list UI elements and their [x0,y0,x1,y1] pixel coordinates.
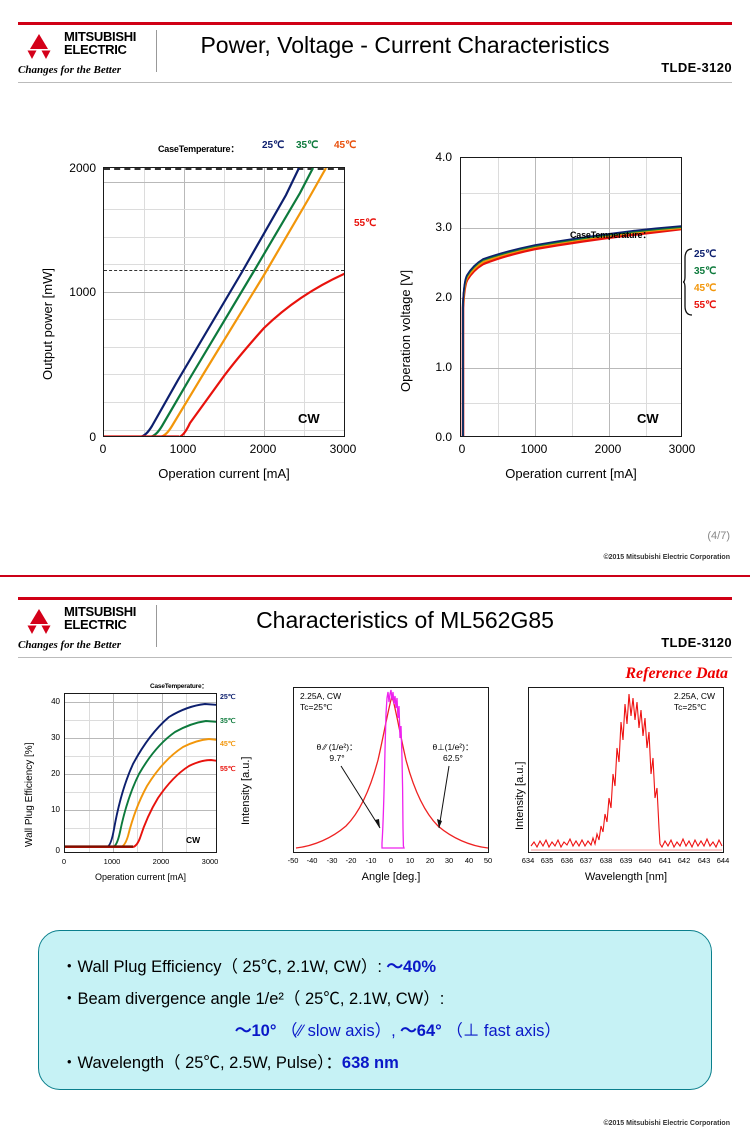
chart5-xaxis-title: Wavelength [nm] [528,871,724,883]
chart1-legend-55c: 55℃ [354,218,376,229]
summary-line-1: ・Wall Plug Efficiency（ 25℃, 2.1W, CW）: ～… [61,953,436,977]
summary-line-2: ・Beam divergence angle 1/e²（ 25℃, 2.1W, … [61,985,444,1009]
chart1-legend-35c: 35℃ [296,140,318,151]
summary-line-2-text: ・Beam divergence angle 1/e²（ 25℃, 2.1W, … [61,990,444,1008]
chart-far-field-pattern: 2.25A, CW Tc=25℃ θ ∕∕ (1/e²)： 9.7° θ⊥(1/… [250,575,500,915]
summary-slow-axis-label: （∕∕ slow axis）, [281,1022,396,1040]
chart5-yaxis-title: Intensity [a.u.] [514,762,526,830]
chart1-curves [104,168,345,437]
summary-line-1-text: ・Wall Plug Efficiency（ 25℃, 2.1W, CW）: [61,958,387,976]
chart1-legend-25c: 25℃ [262,140,284,151]
chart4-annot-perp-l1: θ⊥(1/e²)： [420,742,486,753]
chart2-legend-brace-icon [682,248,694,316]
chart2-legend-title: CaseTemperature： [570,228,651,241]
chart3-ytick-0: 0 [32,846,60,855]
chart2-xaxis-title: Operation current [mA] [460,466,682,481]
chart4-annot-perp-l2: 62.5° [420,753,486,764]
chart2-mode-label: CW [637,411,659,426]
summary-line-4: ・Wavelength（ 25℃, 2.5W, Pulse）：638 nm [61,1049,399,1073]
chart3-ytick-40: 40 [32,697,60,706]
chart3-xtick-3000: 3000 [196,857,224,866]
chart4-plot-area: 2.25A, CW Tc=25℃ θ ∕∕ (1/e²)： 9.7° θ⊥(1/… [293,687,489,853]
chart3-xtick-0: 0 [50,857,78,866]
chart4-annot-parallel-l2: 9.7° [302,753,372,764]
chart1-ytick-2000: 2000 [50,161,96,175]
chart4-note-line1: 2.25A, CW [300,691,341,702]
chart2-xtick-2000: 2000 [588,442,628,456]
chart1-ytick-1000: 1000 [50,285,96,299]
chart5-note-line1: 2.25A, CW [674,691,715,702]
chart1-legend-title: CaseTemperature： [158,142,239,155]
page2-copyright: ©2015 Mitsubishi Electric Corporation [603,1120,730,1127]
chart2-ytick-3: 3.0 [406,220,452,234]
summary-box: ・Wall Plug Efficiency（ 25℃, 2.1W, CW）: ～… [38,930,712,1090]
chart4-annot-perp: θ⊥(1/e²)： 62.5° [420,742,486,764]
chart4-note-line2: Tc=25℃ [300,702,341,713]
chart1-xtick-2000: 2000 [243,442,283,456]
summary-slow-axis-value: ～10° [235,1022,276,1040]
page1-page-number: (4/7) [707,530,730,542]
chart3-legend-45c: 45℃ [220,740,236,748]
chart-emission-spectrum: 2.25A, CW Tc=25℃ 634 635 636 637 638 639… [500,575,750,915]
chart2-legend-45c: 45℃ [694,283,716,294]
page-1: MITSUBISHI ELECTRIC Changes for the Bett… [0,0,750,575]
summary-fast-axis-value: ～64° [400,1022,441,1040]
chart4-annot-parallel: θ ∕∕ (1/e²)： 9.7° [302,742,372,764]
chart4-annot-parallel-l1: θ ∕∕ (1/e²)： [302,742,372,753]
summary-fast-axis-label: （⊥ fast axis） [446,1022,561,1040]
chart5-note: 2.25A, CW Tc=25℃ [674,691,715,714]
chart5-note-line2: Tc=25℃ [674,702,715,713]
chart1-xaxis-title: Operation current [mA] [103,466,345,481]
chart1-xtick-0: 0 [83,442,123,456]
chart3-ytick-30: 30 [32,733,60,742]
chart3-ytick-10: 10 [32,805,60,814]
page1-copyright: ©2015 Mitsubishi Electric Corporation [603,554,730,561]
summary-line-1-value: ～40% [387,958,437,976]
chart3-xtick-1000: 1000 [98,857,126,866]
chart3-ytick-20: 20 [32,769,60,778]
chart2-xtick-3000: 3000 [662,442,702,456]
chart3-yaxis-title: Wall Plug Efficiency [%] [24,743,35,847]
chart3-plot-area [64,693,217,853]
chart2-legend-35c: 35℃ [694,266,716,277]
chart2-legend-25c: 25℃ [694,249,716,260]
chart2-curves [461,158,682,437]
chart-output-power: CaseTemperature： 25℃ 35℃ 45℃ 55℃ [0,0,380,500]
chart1-yaxis-title: Output power [mW] [40,268,55,380]
chart2-legend-55c: 55℃ [694,300,716,311]
chart4-xaxis-title: Angle [deg.] [293,871,489,883]
chart2-yaxis-title: Operation voltage [V] [398,270,413,392]
chart3-legend-35c: 35℃ [220,717,236,725]
chart3-curves [65,694,217,853]
chart1-mode-label: CW [298,411,320,426]
chart-wall-plug-efficiency: CaseTemperature： 25℃ 35℃ [0,575,250,915]
page-2: MITSUBISHI ELECTRIC Changes for the Bett… [0,575,750,1142]
chart-operation-voltage: CaseTemperature： 25℃ 35℃ 45℃ 55℃ CW 4.0 … [380,0,750,500]
chart5-xtick-644: 644 [710,856,736,865]
chart1-legend-45c: 45℃ [334,140,356,151]
chart4-note: 2.25A, CW Tc=25℃ [300,691,341,714]
summary-line-3: ～10° （∕∕ slow axis）, ～64° （⊥ fast axis） [235,1017,561,1041]
chart4-xtick-50: 50 [475,856,501,865]
chart2-plot-area [460,157,682,437]
chart1-plot-area [103,167,345,437]
summary-wavelength-value: 638 nm [342,1054,399,1072]
chart2-ytick-4: 4.0 [406,150,452,164]
chart5-plot-area: 2.25A, CW Tc=25℃ [528,687,724,853]
chart2-xtick-0: 0 [442,442,482,456]
chart3-legend-55c: 55℃ [220,765,236,773]
chart3-xtick-2000: 2000 [147,857,175,866]
chart3-legend-25c: 25℃ [220,693,236,701]
chart2-xtick-1000: 1000 [514,442,554,456]
chart1-xtick-3000: 3000 [323,442,363,456]
chart3-mode-label: CW [186,835,200,845]
chart1-xtick-1000: 1000 [163,442,203,456]
chart3-legend-title: CaseTemperature： [150,680,208,690]
summary-line-4-text: ・Wavelength（ 25℃, 2.5W, Pulse）： [61,1054,342,1072]
chart3-xaxis-title: Operation current [mA] [64,872,217,882]
